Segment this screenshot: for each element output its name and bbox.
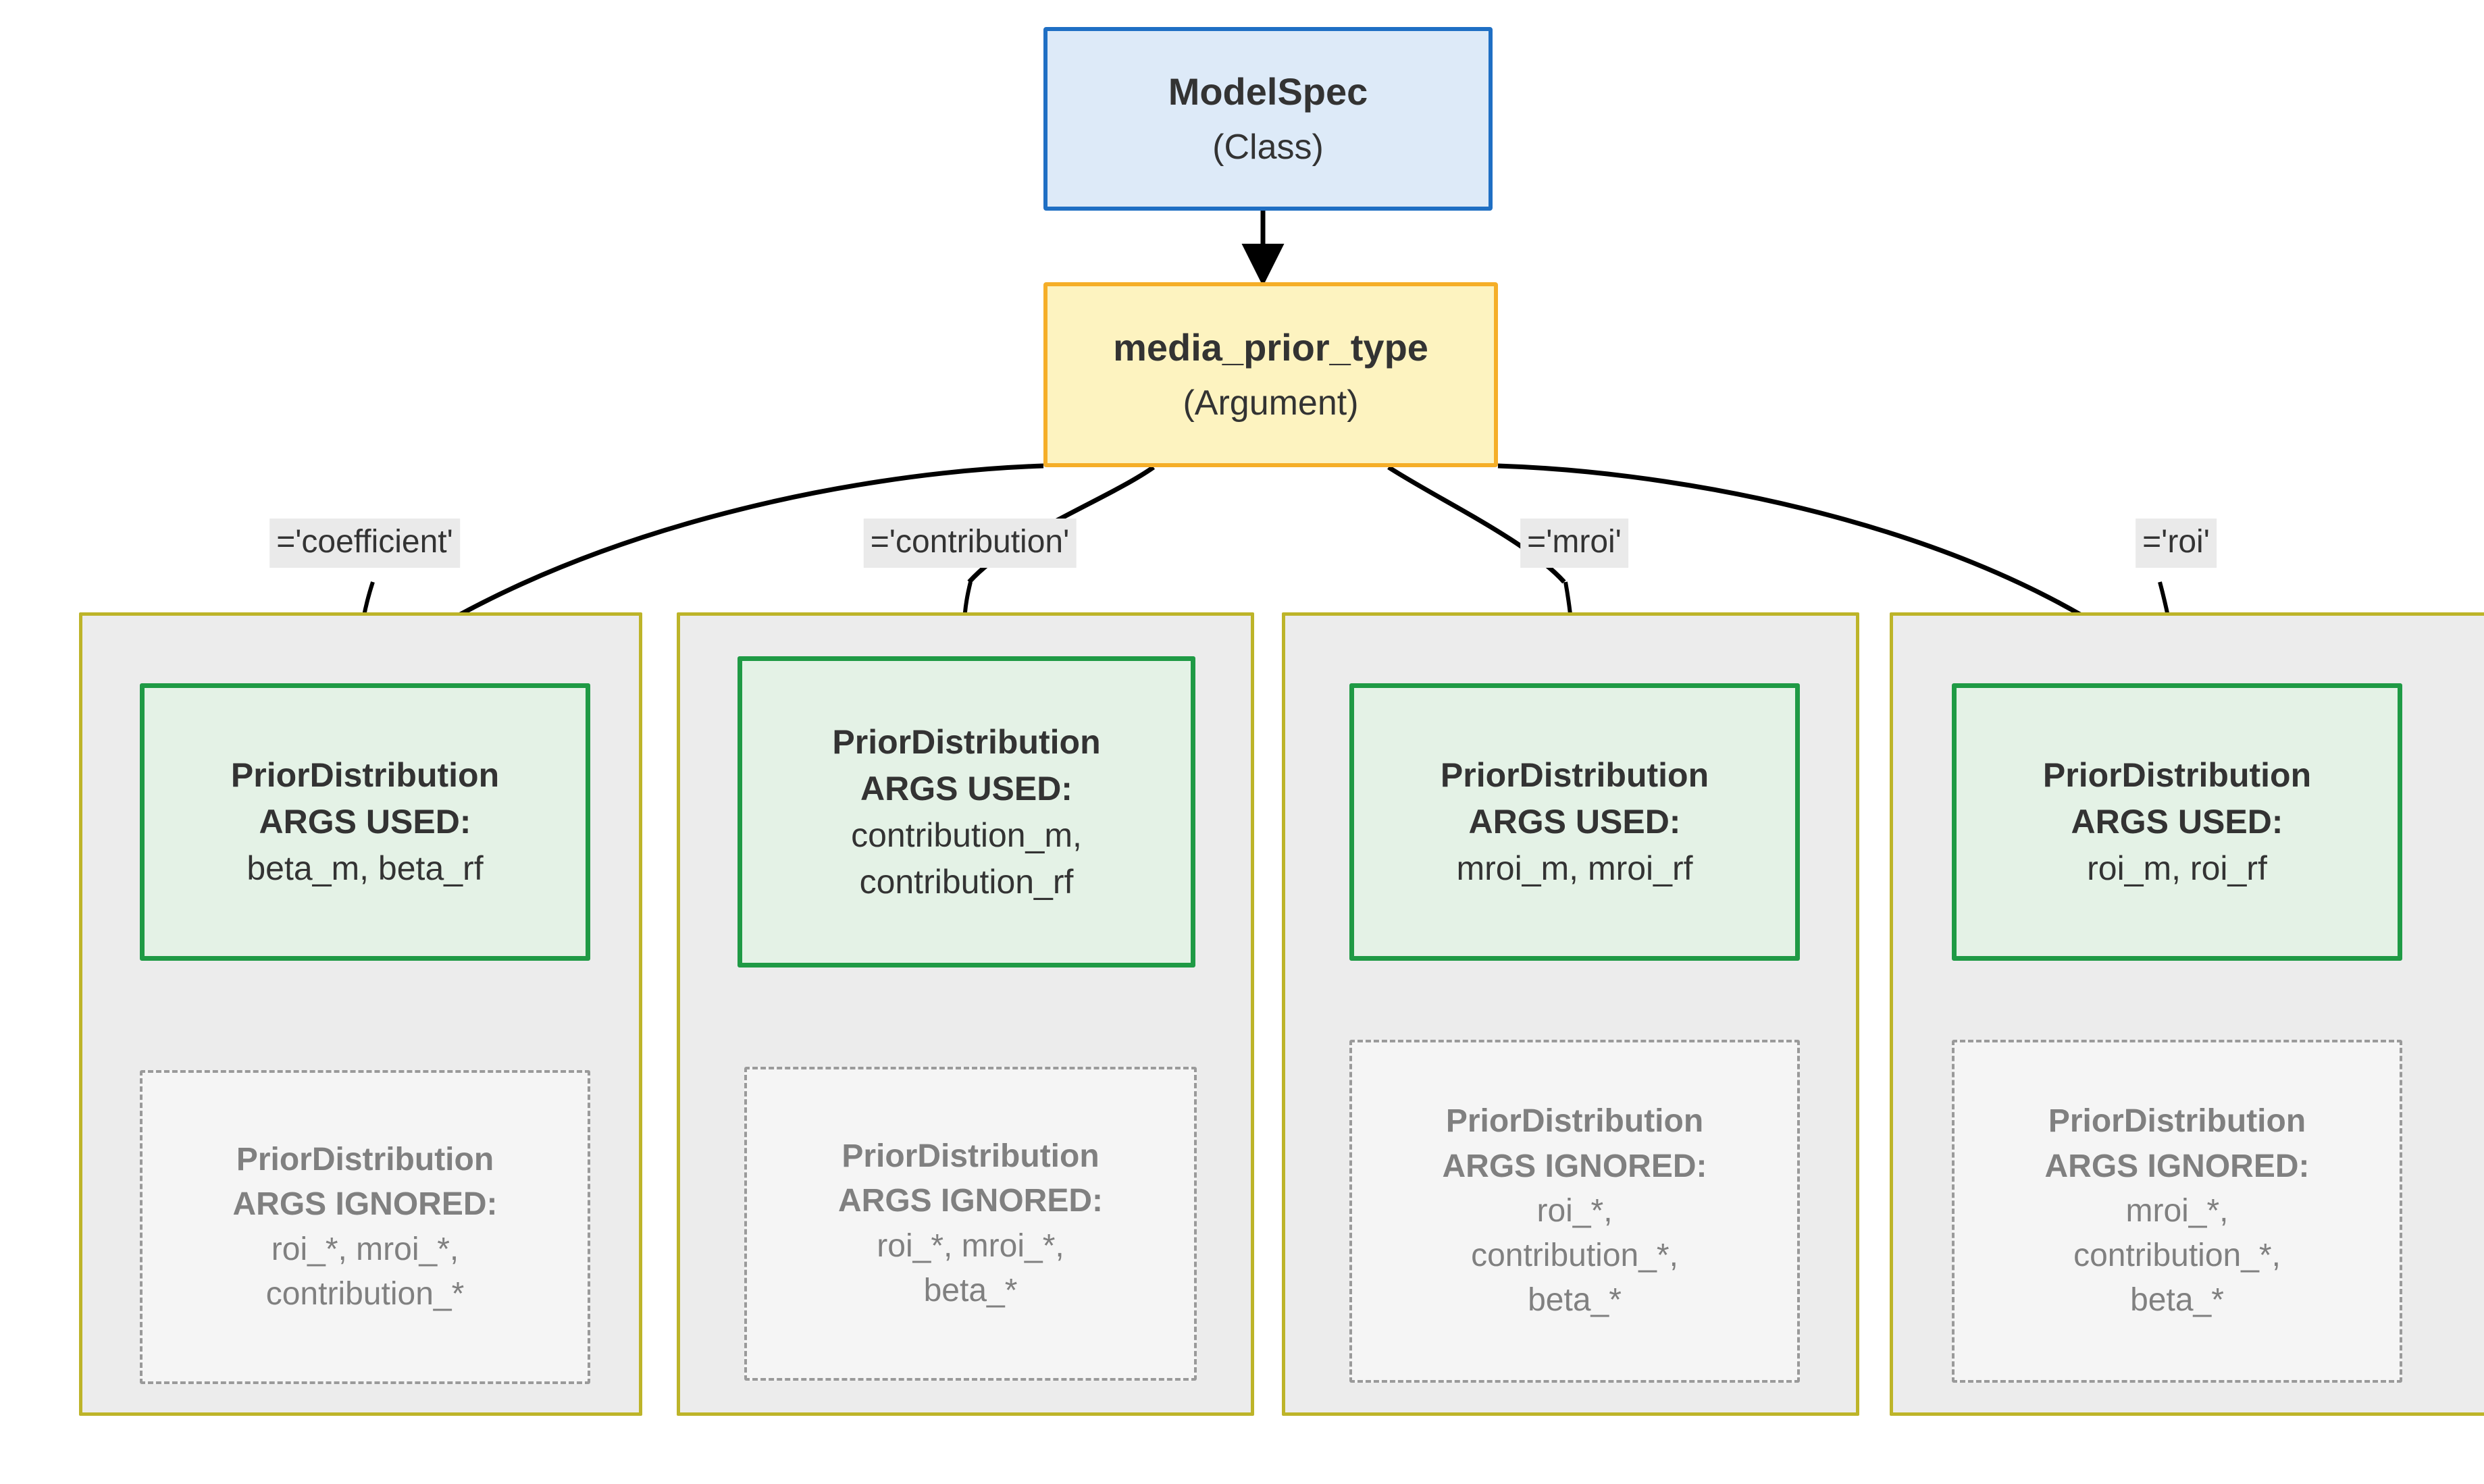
node-ignored-mroi-line2: ARGS IGNORED: xyxy=(1442,1144,1707,1189)
node-used-coefficient-line1: PriorDistribution xyxy=(231,752,499,799)
edge-label-contribution: ='contribution' xyxy=(864,519,1077,568)
node-used-roi-line1: PriorDistribution xyxy=(2043,752,2311,799)
node-ignored-contribution-line2: ARGS IGNORED: xyxy=(838,1179,1103,1223)
node-modelspec[interactable]: ModelSpec (Class) xyxy=(1043,27,1493,211)
node-used-contribution-line1: PriorDistribution xyxy=(832,719,1100,766)
node-ignored-coefficient-line3: roi_*, mroi_*, xyxy=(271,1227,459,1272)
edge-label-coefficient: ='coefficient' xyxy=(269,519,460,568)
flowchart-diagram: ModelSpec (Class) media_prior_type (Argu… xyxy=(0,0,2484,1484)
node-ignored-coefficient-line1: PriorDistribution xyxy=(236,1138,494,1182)
node-used-mroi-line1: PriorDistribution xyxy=(1441,752,1709,799)
node-used-coefficient-line2: ARGS USED: xyxy=(259,799,471,845)
node-ignored-roi-line1: PriorDistribution xyxy=(2048,1099,2306,1144)
node-ignored-contribution-line4: beta_* xyxy=(924,1269,1018,1313)
node-media-prior-type-subtitle: (Argument) xyxy=(1183,379,1358,428)
node-ignored-roi-line4: contribution_*, xyxy=(2073,1234,2281,1278)
node-used-contribution[interactable]: PriorDistribution ARGS USED: contributio… xyxy=(738,656,1195,968)
node-used-contribution-line2: ARGS USED: xyxy=(860,766,1072,812)
node-media-prior-type-title: media_prior_type xyxy=(1113,321,1428,373)
node-used-mroi-line3: mroi_m, mroi_rf xyxy=(1456,845,1692,892)
node-used-roi-line3: roi_m, roi_rf xyxy=(2087,845,2267,892)
node-used-roi[interactable]: PriorDistribution ARGS USED: roi_m, roi_… xyxy=(1952,683,2402,961)
edge-label-mroi: ='mroi' xyxy=(1520,519,1628,568)
node-used-contribution-line3: contribution_m, xyxy=(851,812,1082,859)
node-used-roi-line2: ARGS USED: xyxy=(2071,799,2283,845)
node-ignored-coefficient[interactable]: PriorDistribution ARGS IGNORED: roi_*, m… xyxy=(140,1070,590,1384)
node-used-coefficient-line3: beta_m, beta_rf xyxy=(247,845,483,892)
node-ignored-roi[interactable]: PriorDistribution ARGS IGNORED: mroi_*, … xyxy=(1952,1040,2402,1383)
node-ignored-contribution-line3: roi_*, mroi_*, xyxy=(877,1224,1064,1269)
node-modelspec-title: ModelSpec xyxy=(1168,65,1368,117)
edge-label-roi: ='roi' xyxy=(2136,519,2217,568)
node-ignored-mroi-line1: PriorDistribution xyxy=(1446,1099,1703,1144)
node-ignored-roi-line2: ARGS IGNORED: xyxy=(2044,1144,2309,1189)
node-ignored-coefficient-line4: contribution_* xyxy=(266,1272,465,1317)
node-ignored-coefficient-line2: ARGS IGNORED: xyxy=(232,1182,497,1227)
node-ignored-roi-line5: beta_* xyxy=(2130,1278,2224,1323)
node-used-mroi[interactable]: PriorDistribution ARGS USED: mroi_m, mro… xyxy=(1349,683,1800,961)
node-modelspec-subtitle: (Class) xyxy=(1212,124,1324,172)
node-ignored-roi-line3: mroi_*, xyxy=(2125,1189,2228,1234)
node-ignored-contribution[interactable]: PriorDistribution ARGS IGNORED: roi_*, m… xyxy=(744,1067,1197,1381)
node-ignored-mroi-line5: beta_* xyxy=(1528,1278,1622,1323)
node-used-mroi-line2: ARGS USED: xyxy=(1469,799,1681,845)
node-ignored-mroi[interactable]: PriorDistribution ARGS IGNORED: roi_*, c… xyxy=(1349,1040,1800,1383)
node-media-prior-type[interactable]: media_prior_type (Argument) xyxy=(1043,282,1498,467)
node-ignored-mroi-line4: contribution_*, xyxy=(1471,1234,1678,1278)
node-ignored-contribution-line1: PriorDistribution xyxy=(842,1134,1099,1179)
node-ignored-mroi-line3: roi_*, xyxy=(1536,1189,1612,1234)
node-used-contribution-line4: contribution_rf xyxy=(860,859,1074,905)
node-used-coefficient[interactable]: PriorDistribution ARGS USED: beta_m, bet… xyxy=(140,683,590,961)
